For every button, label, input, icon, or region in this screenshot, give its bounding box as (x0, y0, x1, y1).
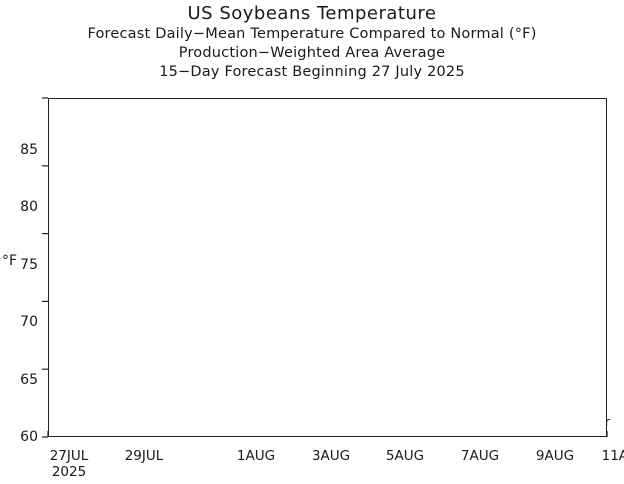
plot-frame (48, 98, 607, 437)
ensemble-member-point (456, 88, 460, 92)
chart-page: US Soybeans Temperature Forecast Daily−M… (0, 0, 624, 484)
